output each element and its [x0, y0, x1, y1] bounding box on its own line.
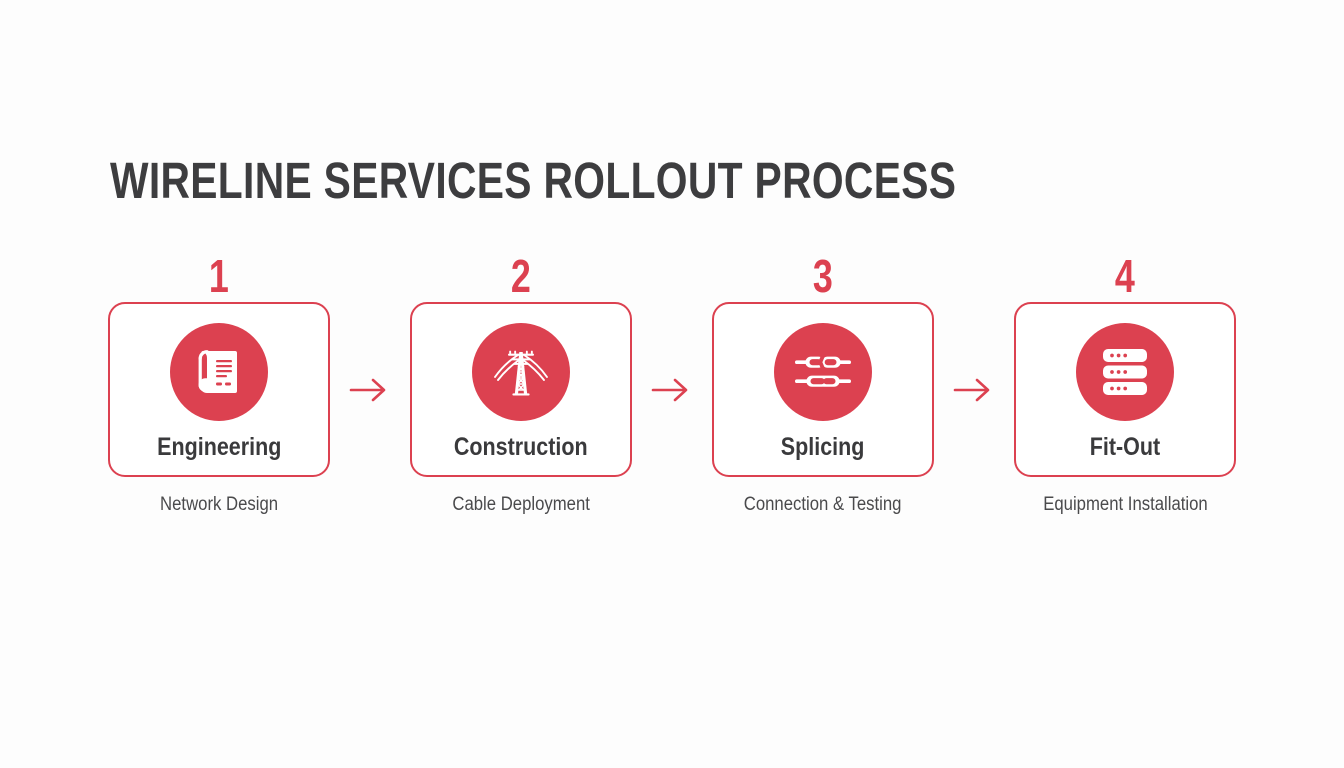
cable-splice-icon	[774, 323, 872, 421]
arrow-right-icon-3	[947, 302, 1001, 477]
process-step-2[interactable]: 2	[410, 250, 632, 516]
infographic-canvas: WIRELINE SERVICES ROLLOUT PROCESS 1	[0, 0, 1344, 768]
step-card-1[interactable]: Engineering	[108, 302, 330, 477]
step-label-4: Fit-Out	[1090, 432, 1160, 462]
step-number-3: 3	[813, 250, 833, 302]
step-caption-3: Connection & Testing	[744, 493, 902, 516]
step-card-2[interactable]: Construction	[410, 302, 632, 477]
step-card-3[interactable]: Splicing	[712, 302, 934, 477]
step-label-3: Splicing	[781, 432, 865, 462]
process-step-3[interactable]: 3	[712, 250, 934, 516]
process-step-1[interactable]: 1	[108, 250, 330, 516]
arrow-right-icon-2	[645, 302, 699, 477]
step-number-4: 4	[1115, 250, 1135, 302]
step-caption-1: Network Design	[160, 493, 278, 516]
step-caption-2: Cable Deployment	[452, 493, 590, 516]
step-card-4[interactable]: Fit-Out	[1014, 302, 1236, 477]
step-number-2: 2	[511, 250, 531, 302]
process-flow: 1	[108, 250, 1236, 540]
step-number-1: 1	[209, 250, 229, 302]
step-label-2: Construction	[454, 432, 588, 462]
arrow-right-icon-1	[343, 302, 397, 477]
process-step-4[interactable]: 4	[1014, 250, 1236, 516]
transmission-tower-icon	[472, 323, 570, 421]
step-label-1: Engineering	[157, 432, 281, 462]
blueprint-scroll-icon	[170, 323, 268, 421]
server-rack-icon	[1076, 323, 1174, 421]
step-caption-4: Equipment Installation	[1043, 493, 1208, 516]
page-title: WIRELINE SERVICES ROLLOUT PROCESS	[110, 152, 956, 210]
